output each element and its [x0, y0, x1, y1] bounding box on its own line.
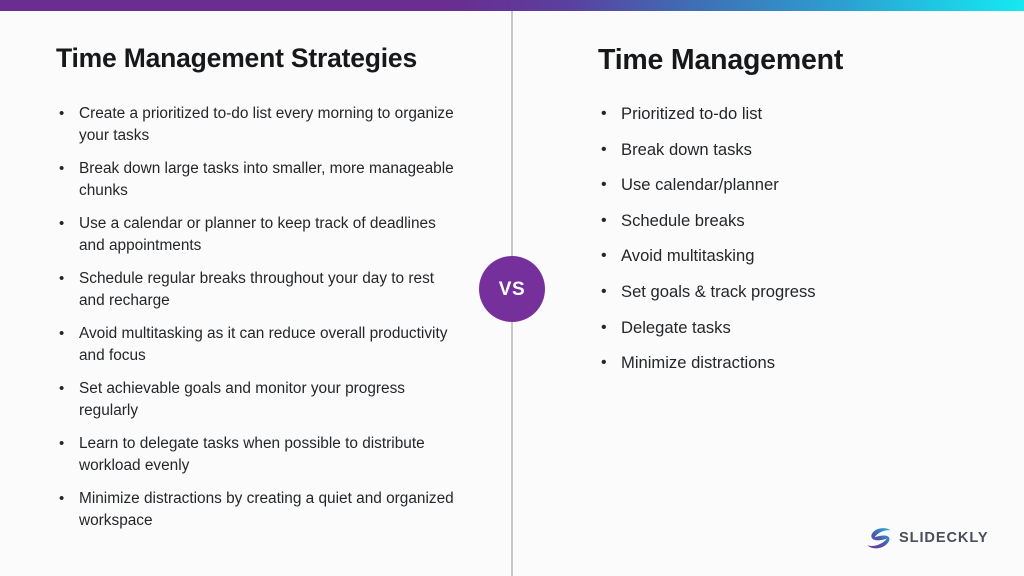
list-item: Delegate tasks	[598, 317, 958, 339]
brand-logo: SLIDECKLY	[866, 527, 988, 549]
slide-canvas: Time Management Strategies Create a prio…	[0, 0, 1024, 576]
left-column-title: Time Management Strategies	[56, 43, 417, 73]
list-item: Minimize distractions	[598, 352, 958, 374]
list-item: Prioritized to-do list	[598, 103, 958, 125]
list-item: Avoid multitasking	[598, 245, 958, 267]
list-item: Use calendar/planner	[598, 174, 958, 196]
list-item: Break down tasks	[598, 139, 958, 161]
versus-badge-label: VS	[499, 280, 526, 299]
right-column-title: Time Management	[598, 44, 843, 77]
left-bullet-list: Create a prioritized to-do list every mo…	[56, 103, 456, 543]
list-item: Schedule breaks	[598, 210, 958, 232]
top-accent-gradient-bar	[0, 0, 1024, 11]
list-item: Use a calendar or planner to keep track …	[56, 213, 456, 256]
list-item: Break down large tasks into smaller, mor…	[56, 158, 456, 201]
list-item: Set goals & track progress	[598, 281, 958, 303]
list-item: Create a prioritized to-do list every mo…	[56, 103, 456, 146]
list-item: Schedule regular breaks throughout your …	[56, 268, 456, 311]
logo-wordmark: SLIDECKLY	[899, 531, 988, 546]
slideckly-swoosh-icon	[866, 527, 892, 549]
list-item: Set achievable goals and monitor your pr…	[56, 378, 456, 421]
versus-badge: VS	[479, 256, 545, 322]
right-bullet-list: Prioritized to-do list Break down tasks …	[598, 103, 958, 388]
list-item: Avoid multitasking as it can reduce over…	[56, 323, 456, 366]
list-item: Learn to delegate tasks when possible to…	[56, 433, 456, 476]
list-item: Minimize distractions by creating a quie…	[56, 488, 456, 531]
